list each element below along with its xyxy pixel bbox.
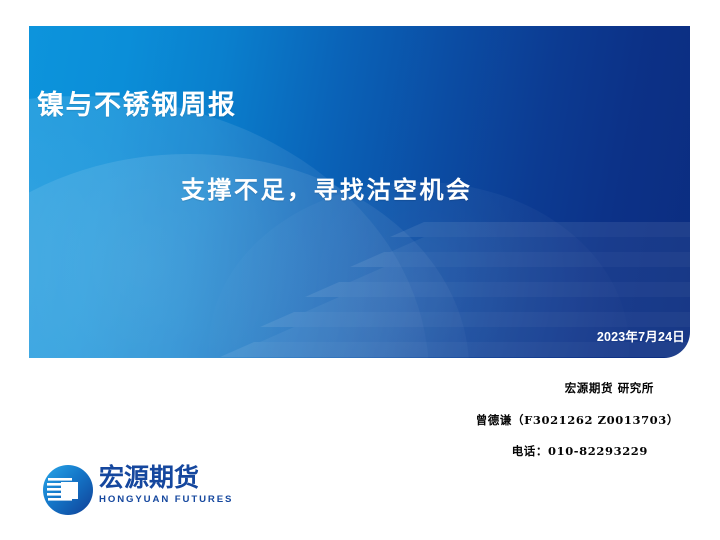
logo-wordmark: 宏源期货 HONGYUAN FUTURES bbox=[99, 465, 229, 505]
logo-name-cn: 宏源期货 bbox=[99, 465, 229, 491]
hongyuan-emblem-icon bbox=[42, 464, 94, 516]
contact-analyst: 曾德谦（F3021262 Z0013703） bbox=[299, 415, 679, 427]
page-title: 镍与不锈钢周报 bbox=[37, 83, 237, 122]
slide-canvas: www.hongyuanqh.com 镍与不锈钢周报 支撑不足，寻找沽空机会 2… bbox=[0, 0, 720, 540]
banner-stripe bbox=[260, 312, 690, 327]
page-subtitle: 支撑不足，寻找沽空机会 bbox=[181, 170, 473, 205]
logo-name-en: HONGYUAN FUTURES bbox=[99, 494, 229, 505]
contact-department: 宏源期货 研究所 bbox=[299, 383, 679, 395]
company-logo: 宏源期货 HONGYUAN FUTURES bbox=[42, 462, 232, 520]
banner-stripe bbox=[305, 297, 690, 312]
banner-stripe bbox=[390, 222, 690, 237]
banner-stripe bbox=[350, 267, 690, 282]
contact-block: 宏源期货 研究所 曾德谦（F3021262 Z0013703） 电话：010-8… bbox=[299, 383, 679, 458]
banner-stripe bbox=[390, 237, 690, 252]
contact-phone: 电话：010-82293229 bbox=[299, 446, 679, 458]
banner-stripe bbox=[305, 282, 690, 297]
banner-stripe bbox=[350, 252, 690, 267]
report-date: 2023年7月24日 bbox=[597, 326, 685, 345]
